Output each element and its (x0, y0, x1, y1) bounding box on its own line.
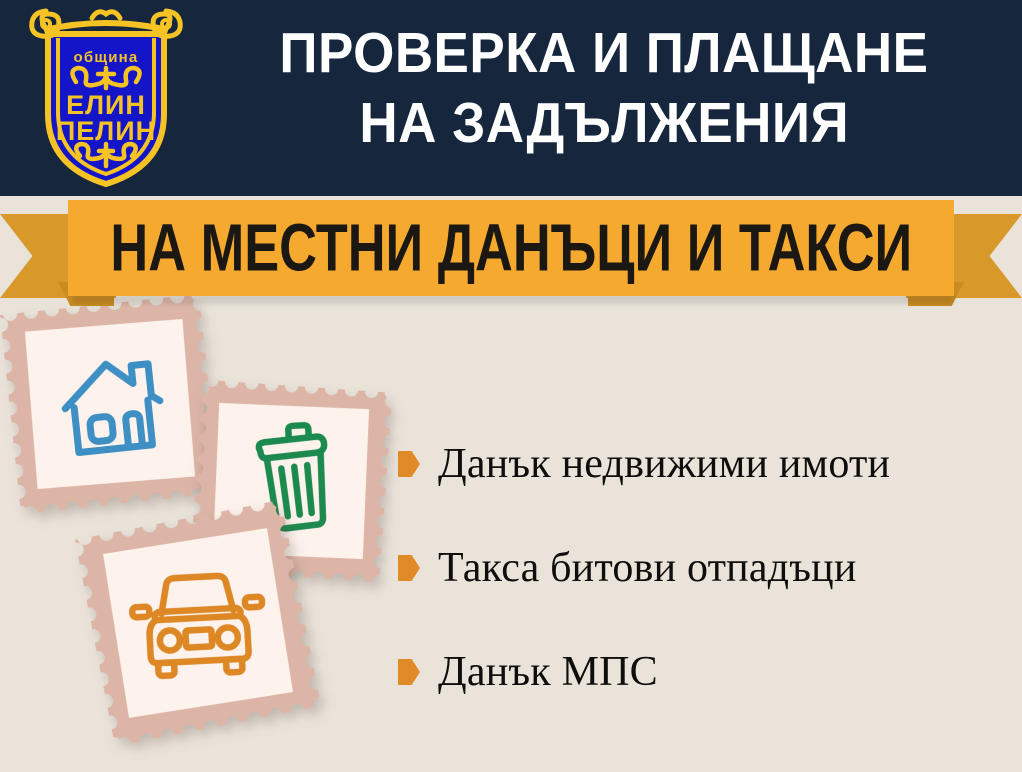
list-item-label: Данък недвижими имоти (438, 441, 890, 487)
poster-canvas: община ЕЛИН ПЕЛИН (0, 0, 1022, 772)
page-title-line-1: ПРОВЕРКА И ПЛАЩАНЕ (279, 18, 928, 88)
list-item-label: Данък МПС (438, 649, 658, 695)
services-list: Данък недвижими имоти Такса битови отпад… (398, 424, 1010, 714)
list-item[interactable]: Данък недвижими имоти (398, 436, 890, 492)
crest-word-pelin: ПЕЛИН (56, 116, 156, 146)
stamp-card-group (0, 296, 420, 772)
bullet-arrow-icon (398, 451, 420, 477)
list-item-label: Такса битови отпадъци (438, 545, 857, 591)
ribbon-banner: НА МЕСТНИ ДАНЪЦИ И ТАКСИ (68, 200, 954, 296)
ribbon-label: НА МЕСТНИ ДАНЪЦИ И ТАКСИ (110, 213, 912, 282)
crest-word-top: община (74, 49, 139, 66)
page-title-line-2: НА ЗАДЪЛЖЕНИЯ (359, 88, 849, 158)
vehicle-stamp (75, 500, 321, 746)
crest-logo: община ЕЛИН ПЕЛИН (20, 6, 192, 190)
bullet-arrow-icon (398, 555, 420, 581)
bullet-arrow-icon (398, 659, 420, 685)
stamp-frame-house (0, 294, 220, 514)
list-item[interactable]: Данък МПС (398, 644, 658, 700)
stamp-frame-car (75, 500, 321, 746)
header-banner: община ЕЛИН ПЕЛИН (0, 0, 1022, 196)
list-item[interactable]: Такса битови отпадъци (398, 540, 857, 596)
header-title-block: ПРОВЕРКА И ПЛАЩАНЕ НА ЗАДЪЛЖЕНИЯ (196, 18, 1012, 178)
subtitle-ribbon: НА МЕСТНИ ДАНЪЦИ И ТАКСИ (0, 196, 1022, 312)
coat-of-arms-icon: община ЕЛИН ПЕЛИН (20, 6, 192, 190)
property-stamp (0, 294, 220, 514)
